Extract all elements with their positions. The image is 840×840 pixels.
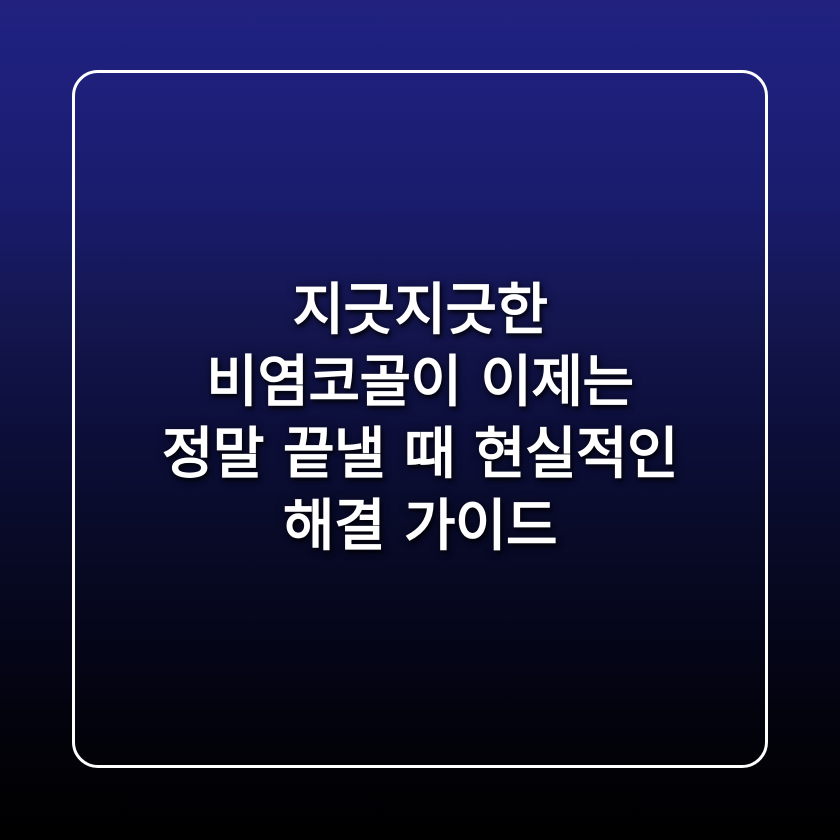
- poster-canvas: 지긋지긋한 비염코골이 이제는 정말 끝낼 때 현실적인 해결 가이드: [0, 0, 840, 840]
- headline-line-4: 해결 가이드: [90, 491, 750, 563]
- headline-block: 지긋지긋한 비염코골이 이제는 정말 끝낼 때 현실적인 해결 가이드: [72, 70, 768, 768]
- headline-line-2: 비염코골이 이제는: [90, 347, 750, 419]
- headline-line-1: 지긋지긋한: [90, 275, 750, 347]
- headline-line-3: 정말 끝낼 때 현실적인: [90, 419, 750, 491]
